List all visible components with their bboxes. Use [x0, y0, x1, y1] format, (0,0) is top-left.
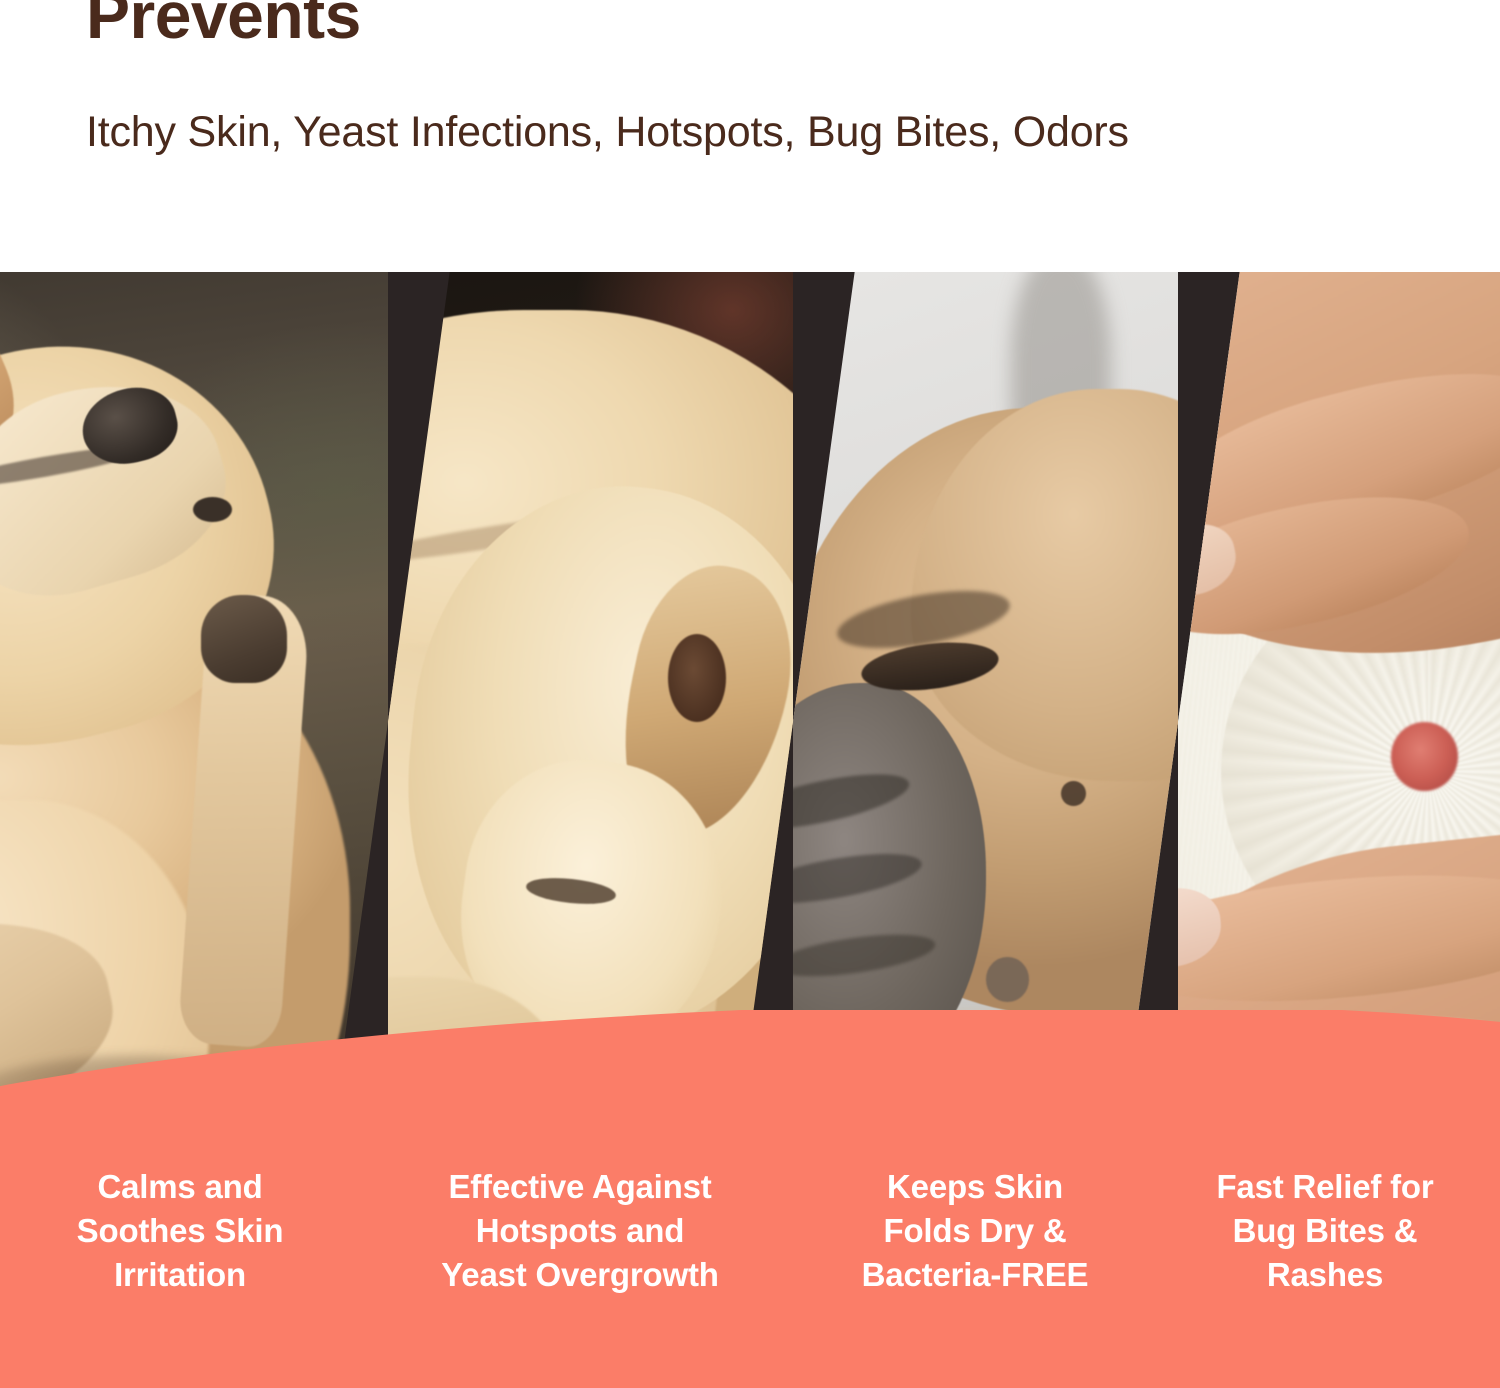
dog-eye-shape: [193, 497, 232, 522]
benefit-caption-1: Calms and Soothes Skin Irritation: [0, 1165, 360, 1345]
caption-line: Folds Dry &: [862, 1209, 1089, 1253]
dog-ear-canal-shape: [668, 634, 726, 722]
caption-line: Bacteria-FREE: [862, 1253, 1089, 1297]
page-subtitle: Itchy Skin, Yeast Infections, Hotspots, …: [86, 108, 1129, 157]
caption-line: Fast Relief for: [1216, 1165, 1433, 1209]
benefit-caption-4: Fast Relief for Bug Bites & Rashes: [1150, 1165, 1500, 1345]
dog-skin-mole: [1061, 781, 1086, 806]
benefit-caption-2: Effective Against Hotspots and Yeast Ove…: [360, 1165, 800, 1345]
caption-line: Irritation: [77, 1253, 284, 1297]
page-title: Prevents: [86, 0, 361, 48]
benefit-captions-row: Calms and Soothes Skin Irritation Effect…: [0, 1165, 1500, 1345]
bug-bite-spot: [1391, 722, 1458, 791]
caption-line: Calms and: [77, 1165, 284, 1209]
caption-line: Rashes: [1216, 1253, 1433, 1297]
caption-line: Bug Bites &: [1216, 1209, 1433, 1253]
caption-line: Yeast Overgrowth: [441, 1253, 718, 1297]
dog-whisker-bump: [986, 957, 1030, 1002]
product-feature-graphic: Prevents Itchy Skin, Yeast Infections, H…: [0, 0, 1500, 1388]
caption-line: Keeps Skin: [862, 1165, 1089, 1209]
caption-line: Hotspots and: [441, 1209, 718, 1253]
header-section: Prevents Itchy Skin, Yeast Infections, H…: [0, 0, 1500, 272]
benefit-caption-3: Keeps Skin Folds Dry & Bacteria-FREE: [800, 1165, 1150, 1345]
dog-paw-toes-shape: [201, 595, 288, 683]
caption-line: Effective Against: [441, 1165, 718, 1209]
caption-line: Soothes Skin: [77, 1209, 284, 1253]
